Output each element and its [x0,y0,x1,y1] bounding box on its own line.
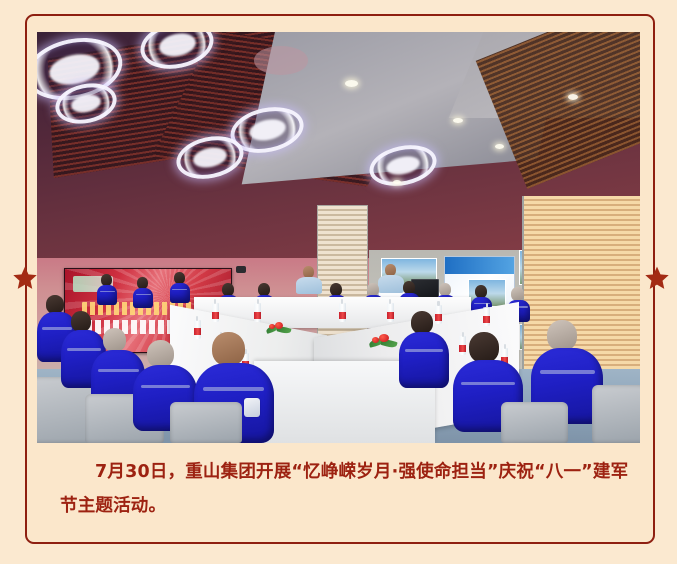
water-bottle [194,320,201,339]
ceiling-camera [236,266,246,273]
ceiling-slat-panel-right [476,32,640,190]
chair [592,385,640,443]
photo-scene [37,32,640,443]
spot-light [495,144,503,149]
spot-light [393,180,401,184]
star-icon [12,265,38,291]
water-bottle [212,303,219,322]
spot-light [345,80,358,87]
water-bottle [435,305,442,324]
chair [170,402,242,443]
star-icon [644,265,670,291]
chair [501,402,567,443]
ceiling-round-plate [254,46,308,75]
uniform-badge [244,398,260,417]
water-bottle [459,336,466,355]
event-photo [37,32,640,443]
water-bottle [483,307,490,326]
water-bottle [387,303,394,322]
photo-caption: 7月30日，重山集团开展“忆峥嵘岁月·强使命担当”庆祝“八一”建军节主题活动。 [60,455,635,523]
spot-light [453,118,463,123]
caption-text: 7月30日，重山集团开展“忆峥嵘岁月·强使命担当”庆祝“八一”建军节主题活动。 [60,455,635,523]
water-bottle [339,303,346,322]
flower-arrangement [369,332,395,349]
water-bottle [254,303,261,322]
flower-arrangement [266,320,292,337]
